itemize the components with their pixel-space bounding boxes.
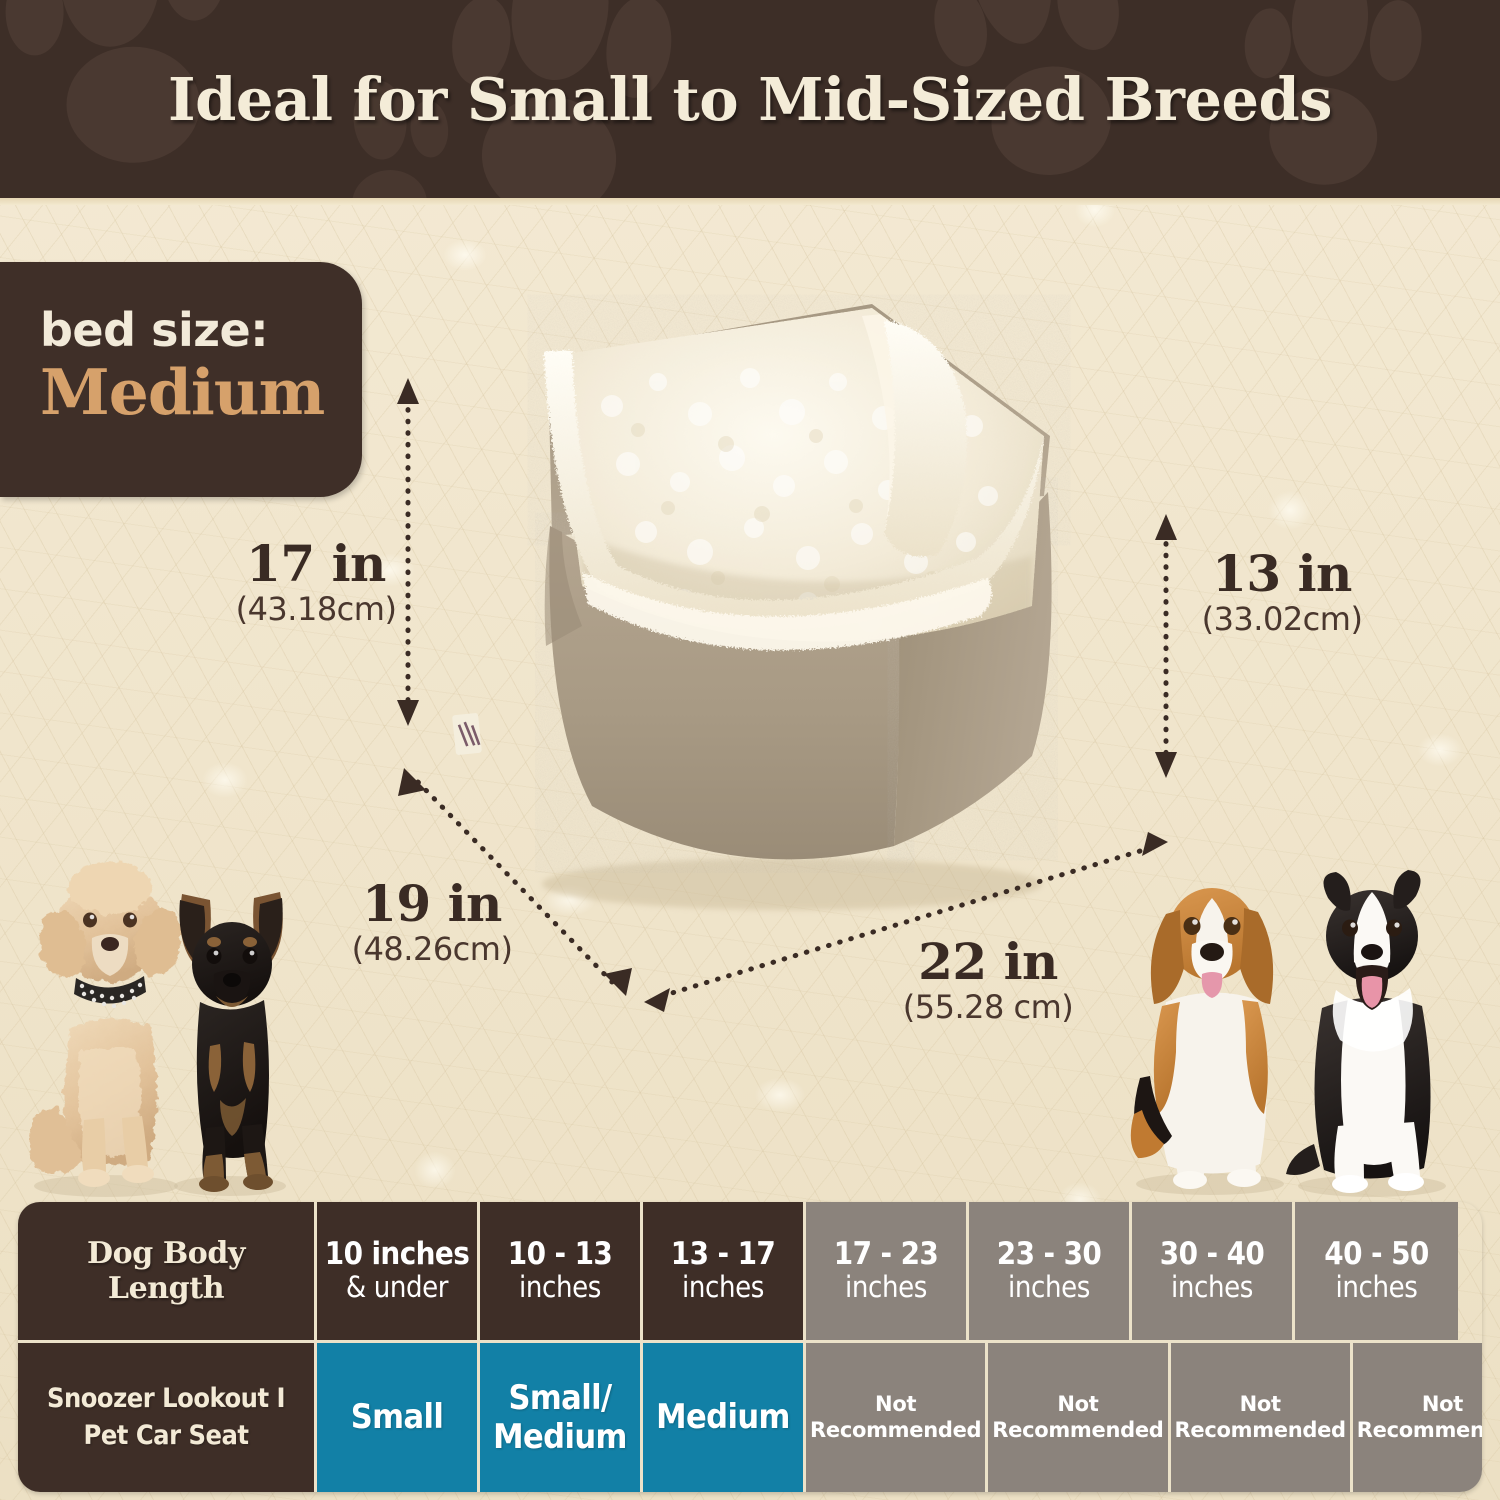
recommendation-4-line1: Not (875, 1392, 916, 1418)
table-recommendation-2: Small/ Medium (480, 1340, 643, 1492)
recommendation-7-line2: Recommended (1357, 1418, 1482, 1444)
table-header-cell-4: 17 - 23 inches (806, 1202, 969, 1340)
header-unit-2: inches (519, 1271, 601, 1304)
infographic-page: Ideal for Small to Mid-Sized Breeds (0, 0, 1500, 1500)
table-product-label: Snoozer Lookout I Pet Car Seat (18, 1340, 317, 1492)
recommendation-1-line1: Small (351, 1398, 444, 1436)
bed-size-badge: bed size: Medium (0, 262, 362, 497)
dimension-depth-right-inches: 13 in (1182, 548, 1382, 599)
table-header-cell-3: 13 - 17 inches (643, 1202, 806, 1340)
header-unit-1: & under (346, 1271, 448, 1304)
header-unit-3: inches (682, 1271, 764, 1304)
table-recommendation-3: Medium (643, 1340, 806, 1492)
recommendation-2-line1: Small/ (508, 1379, 611, 1417)
dimension-width-metric: (55.28 cm) (868, 987, 1108, 1027)
table-product-row: Snoozer Lookout I Pet Car Seat Small Sma… (18, 1340, 1482, 1492)
header-unit-5: inches (1008, 1271, 1090, 1304)
beagle-photo (1131, 888, 1284, 1195)
header-unit-4: inches (845, 1271, 927, 1304)
recommendation-5-line2: Recommended (992, 1418, 1163, 1444)
table-recommendation-6: Not Recommended (1171, 1340, 1353, 1492)
table-recommendation-5: Not Recommended (988, 1340, 1170, 1492)
small-dogs-group (18, 852, 308, 1200)
dog-body-length-line2: Length (108, 1271, 224, 1306)
dimension-depth-left-metric: (48.26cm) (322, 929, 542, 969)
table-recommendation-4: Not Recommended (806, 1340, 988, 1492)
recommendation-6-line1: Not (1240, 1392, 1281, 1418)
recommendation-5-line1: Not (1057, 1392, 1098, 1418)
recommendation-6-line2: Recommended (1175, 1418, 1346, 1444)
table-header-row-label: Dog Body Length (18, 1202, 317, 1340)
header-range-3: 13 - 17 (671, 1237, 775, 1271)
apricot-poodle-photo (31, 862, 188, 1197)
header-range-5: 23 - 30 (997, 1237, 1101, 1271)
sizing-table: Dog Body Length 10 inches & under 10 - 1… (18, 1202, 1482, 1492)
header-range-2: 10 - 13 (508, 1237, 612, 1271)
dimension-depth-left-inches: 19 in (322, 878, 542, 929)
border-collie-photo (1286, 870, 1446, 1197)
header-unit-7: inches (1336, 1271, 1418, 1304)
dimension-height: 17 in (43.18cm) (216, 538, 416, 629)
product-name-line2: Pet Car Seat (84, 1418, 249, 1454)
header-unit-6: inches (1171, 1271, 1253, 1304)
recommendation-7-line1: Not (1422, 1392, 1463, 1418)
table-header-cell-2: 10 - 13 inches (480, 1202, 643, 1340)
header-range-4: 17 - 23 (834, 1237, 938, 1271)
table-recommendation-1: Small (317, 1340, 480, 1492)
recommendation-2-line2: Medium (493, 1418, 627, 1456)
product-name-line1: Snoozer Lookout I (47, 1381, 285, 1417)
bed-size-label: bed size: (40, 306, 362, 354)
mid-size-dogs-group (1118, 852, 1470, 1200)
dimension-depth-right: 13 in (33.02cm) (1182, 548, 1382, 639)
dimension-depth-right-metric: (33.02cm) (1182, 599, 1382, 639)
table-header-row: Dog Body Length 10 inches & under 10 - 1… (18, 1202, 1482, 1340)
header-range-7: 40 - 50 (1324, 1237, 1428, 1271)
dimension-height-metric: (43.18cm) (216, 589, 416, 629)
recommendation-3-line1: Medium (656, 1398, 790, 1436)
dimension-width: 22 in (55.28 cm) (868, 936, 1108, 1027)
dog-body-length-line1: Dog Body (87, 1236, 245, 1271)
dimension-width-inches: 22 in (868, 936, 1108, 987)
table-header-cell-1: 10 inches & under (317, 1202, 480, 1340)
table-header-cell-5: 23 - 30 inches (969, 1202, 1132, 1340)
table-recommendation-7: Not Recommended (1353, 1340, 1482, 1492)
miniature-pinscher-photo (174, 892, 286, 1196)
table-header-cell-7: 40 - 50 inches (1295, 1202, 1458, 1340)
table-header-cell-6: 30 - 40 inches (1132, 1202, 1295, 1340)
header-range-1: 10 inches (325, 1237, 469, 1271)
dimension-depth-left: 19 in (48.26cm) (322, 878, 542, 969)
recommendation-4-line2: Recommended (810, 1418, 981, 1444)
bed-size-value: Medium (40, 358, 362, 427)
header-range-6: 30 - 40 (1160, 1237, 1264, 1271)
dimension-height-inches: 17 in (216, 538, 416, 589)
